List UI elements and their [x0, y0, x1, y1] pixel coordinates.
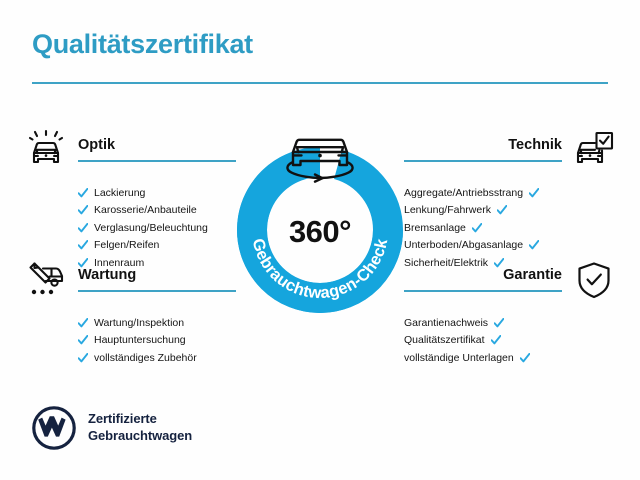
- header-divider: [32, 82, 608, 84]
- section-garantie-divider: [404, 290, 562, 292]
- list-item: Hauptuntersuchung: [78, 332, 236, 350]
- section-technik-title-wrap: Technik: [404, 138, 562, 163]
- check-icon: [78, 205, 88, 215]
- check-icon: [78, 318, 88, 328]
- list-item: Lackierung: [78, 184, 236, 202]
- list-item-label: Felgen/Reifen: [94, 240, 159, 251]
- list-item: Lenkung/Fahrwerk: [404, 202, 562, 220]
- list-item: Garantienachweis: [404, 314, 562, 332]
- page-header: Qualitätszertifikat: [32, 30, 608, 84]
- list-item-label: Aggregate/Antriebsstrang: [404, 188, 523, 199]
- certificate-page: Qualitätszertifikat: [0, 0, 640, 480]
- badge-degrees: 360°: [228, 214, 412, 250]
- check-icon: [491, 335, 501, 345]
- check-icon: [529, 188, 539, 198]
- footer-brand-text: Zertifizierte Gebrauchtwagen: [88, 411, 192, 444]
- list-item-label: Verglasung/Beleuchtung: [94, 223, 208, 234]
- list-item-label: Lenkung/Fahrwerk: [404, 205, 491, 216]
- footer-line-1: Zertifizierte: [88, 411, 192, 428]
- list-item: Aggregate/Antriebsstrang: [404, 184, 562, 202]
- section-wartung: Wartung Wartung/Inspektion Hauptuntersuc…: [24, 258, 236, 367]
- section-technik-header: Technik: [404, 128, 616, 172]
- check-icon: [494, 318, 504, 328]
- list-item: Bremsanlage: [404, 219, 562, 237]
- list-item: vollständige Unterlagen: [404, 349, 562, 367]
- page-title: Qualitätszertifikat: [32, 30, 608, 60]
- list-item-label: Unterboden/Abgasanlage: [404, 240, 523, 251]
- section-technik: Technik Aggregate/Antriebsstrang Lenkung…: [404, 128, 616, 272]
- list-item-label: Bremsanlage: [404, 223, 466, 234]
- section-garantie-title-wrap: Garantie: [404, 268, 562, 293]
- section-wartung-list: Wartung/Inspektion Hauptuntersuchung vol…: [24, 314, 236, 367]
- section-garantie-list: Garantienachweis Qualitätszertifikat vol…: [404, 314, 616, 367]
- section-wartung-divider: [78, 290, 236, 292]
- section-technik-title: Technik: [404, 138, 562, 161]
- shield-check-icon: [572, 258, 616, 302]
- list-item: vollständiges Zubehör: [78, 349, 236, 367]
- list-item-label: vollständiges Zubehör: [94, 353, 197, 364]
- check-icon: [78, 223, 88, 233]
- check-icon: [78, 335, 88, 345]
- list-item-label: vollständige Unterlagen: [404, 353, 514, 364]
- section-technik-divider: [404, 160, 562, 162]
- list-item: Felgen/Reifen: [78, 237, 236, 255]
- check-icon: [529, 240, 539, 250]
- list-item-label: Qualitätszertifikat: [404, 335, 485, 346]
- list-item: Karosserie/Anbauteile: [78, 202, 236, 220]
- list-item-label: Karosserie/Anbauteile: [94, 205, 197, 216]
- section-wartung-title: Wartung: [78, 268, 236, 291]
- car-front-checkbox-icon: [572, 128, 616, 172]
- section-optik: Optik Lackierung Karosserie/Anbauteile V…: [24, 128, 236, 272]
- badge-360-gebrauchtwagen-check: Gebrauchtwagen-Check 360°: [228, 118, 412, 318]
- list-item: Qualitätszertifikat: [404, 332, 562, 350]
- list-item-label: Garantienachweis: [404, 318, 488, 329]
- wrench-car-service-icon: [24, 258, 68, 302]
- list-item: Unterboden/Abgasanlage: [404, 237, 562, 255]
- section-optik-divider: [78, 160, 236, 162]
- list-item-label: Wartung/Inspektion: [94, 318, 184, 329]
- footer-brand: Zertifizierte Gebrauchtwagen: [32, 406, 192, 450]
- check-icon: [78, 188, 88, 198]
- section-optik-header: Optik: [24, 128, 236, 172]
- list-item-label: Lackierung: [94, 188, 145, 199]
- list-item: Verglasung/Beleuchtung: [78, 219, 236, 237]
- section-garantie-title: Garantie: [404, 268, 562, 291]
- section-wartung-title-wrap: Wartung: [78, 268, 236, 293]
- list-item-label: Hauptuntersuchung: [94, 335, 186, 346]
- check-icon: [520, 353, 530, 363]
- car-front-shine-icon: [24, 128, 68, 172]
- check-icon: [78, 353, 88, 363]
- section-wartung-header: Wartung: [24, 258, 236, 302]
- list-item: Wartung/Inspektion: [78, 314, 236, 332]
- section-optik-title: Optik: [78, 138, 236, 161]
- check-icon: [497, 205, 507, 215]
- check-icon: [78, 240, 88, 250]
- section-garantie-header: Garantie: [404, 258, 616, 302]
- footer-line-2: Gebrauchtwagen: [88, 428, 192, 445]
- check-icon: [472, 223, 482, 233]
- section-garantie: Garantie Garantienachweis Qualitätszerti…: [404, 258, 616, 367]
- volkswagen-logo: [32, 406, 76, 450]
- section-optik-title-wrap: Optik: [78, 138, 236, 163]
